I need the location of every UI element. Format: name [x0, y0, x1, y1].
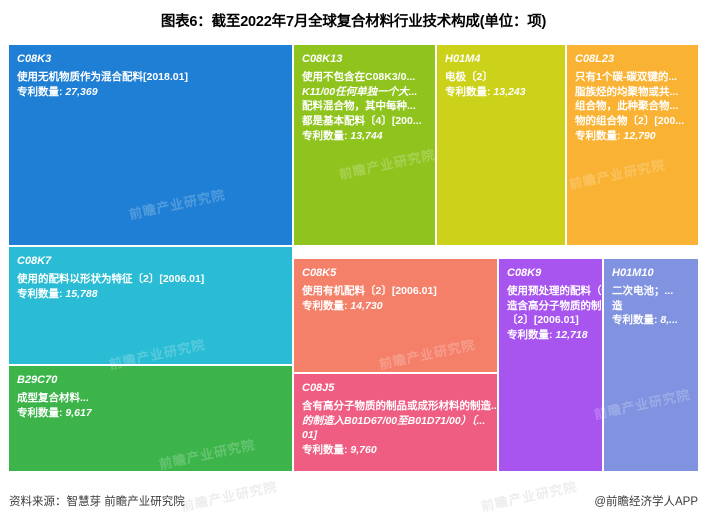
tile-count: 专利数量: 9,760: [302, 443, 490, 458]
tile-desc-line: 二次电池；...: [612, 284, 691, 299]
treemap-tile-h01m10[interactable]: H01M10 二次电池；... 造 专利数量: 8,...: [603, 258, 699, 472]
tile-desc-line: 含有高分子物质的制品或成形材料的制造...: [302, 399, 490, 414]
tile-count: 专利数量: 9,617: [17, 406, 285, 421]
page-title: 图表6：截至2022年7月全球复合材料行业技术构成(单位：项): [0, 10, 707, 31]
watermark: 前瞻产业研究院: [479, 476, 579, 515]
treemap-chart: C08K3 使用无机物质作为混合配料[2018.01] 专利数量: 27,369…: [8, 44, 699, 472]
source-label: 资料来源：智慧芽 前瞻产业研究院: [9, 493, 185, 509]
tile-desc-line: 使用预处理的配料（使用预处理的纤维状...: [507, 284, 595, 299]
tile-count: 专利数量: 14,730: [302, 299, 490, 314]
tile-desc-line: 都是基本配料〔4〕[200...: [302, 114, 428, 129]
tile-desc-line: 01]: [302, 428, 490, 443]
treemap-tile-c08l23[interactable]: C08L23 只有1个碳-碳双键的... 脂族烃的均聚物或共... 组合物，此种…: [566, 44, 699, 246]
tile-desc-line: 使用有机配料〔2〕[2006.01]: [302, 284, 490, 299]
tile-desc-line: 〔2〕[2006.01]: [507, 313, 595, 328]
tile-desc-line: 配料混合物，其中每种...: [302, 99, 428, 114]
tile-desc-line: 使用无机物质作为混合配料[2018.01]: [17, 70, 285, 85]
tile-desc-line: 物的组合物〔2〕[200...: [575, 114, 691, 129]
tile-desc-line: 使用不包含在C08K3/0...: [302, 70, 428, 85]
tile-count: 专利数量: 27,369: [17, 85, 285, 100]
tile-code: C08K7: [17, 254, 285, 270]
tile-code: C08K3: [17, 52, 285, 68]
treemap-tile-b29c70[interactable]: C08K9 使用预处理的配料（使用预处理的纤维状... 造含高分子物质的制品或成…: [498, 258, 603, 472]
tile-desc-line: 组合物，此种聚合物...: [575, 99, 691, 114]
tile-code: C08K13: [302, 52, 428, 68]
tile-count: 专利数量: 8,...: [612, 313, 691, 328]
tile-code: C08L23: [575, 52, 691, 68]
tile-count: 专利数量: 12,790: [575, 129, 691, 144]
tile-code: B29C70: [17, 373, 285, 389]
treemap-tile-c08j5[interactable]: C08J5 含有高分子物质的制品或成形材料的制造... 的制造入B01D67/0…: [293, 373, 498, 472]
brand-label: @前瞻经济学人APP: [594, 493, 698, 509]
tile-desc-line: 脂族烃的均聚物或共...: [575, 85, 691, 100]
tile-desc-line: 电极〔2〕: [445, 70, 558, 85]
treemap-tile-c08k9[interactable]: C08K5 使用有机配料〔2〕[2006.01] 专利数量: 14,730: [293, 258, 498, 373]
tile-count: 专利数量: 15,788: [17, 287, 285, 302]
watermark: 前瞻产业研究院: [179, 476, 279, 515]
tile-code: H01M4: [445, 52, 558, 68]
tile-count: 专利数量: 13,243: [445, 85, 558, 100]
tile-desc-line: 造: [612, 299, 691, 314]
treemap-tile-h01m4[interactable]: H01M4 电极〔2〕 专利数量: 13,243: [436, 44, 566, 246]
tile-count: 专利数量: 13,744: [302, 129, 428, 144]
treemap-tile-c08k5[interactable]: B29C70 成型复合材料... 专利数量: 9,617: [8, 365, 293, 472]
tile-desc-line: 的制造入B01D67/00至B01D71/00）〔...: [302, 414, 490, 429]
tile-desc-line: 只有1个碳-碳双键的...: [575, 70, 691, 85]
treemap-tile-c08k3[interactable]: C08K3 使用无机物质作为混合配料[2018.01] 专利数量: 27,369: [8, 44, 293, 246]
tile-desc-line: 造含高分子物质的制品或成形材料入C08...: [507, 299, 595, 314]
tile-count: 专利数量: 12,718: [507, 328, 595, 343]
treemap-tile-c08k13[interactable]: C08K13 使用不包含在C08K3/0... K11/00任何单独一个大...…: [293, 44, 436, 246]
treemap-tile-c08k7[interactable]: C08K7 使用的配料以形状为特征〔2〕[2006.01] 专利数量: 15,7…: [8, 246, 293, 365]
tile-code: C08K9: [507, 266, 595, 282]
tile-desc-line: K11/00任何单独一个大...: [302, 85, 428, 100]
tile-code: H01M10: [612, 266, 691, 282]
tile-desc-line: 使用的配料以形状为特征〔2〕[2006.01]: [17, 272, 285, 287]
tile-desc-line: 成型复合材料...: [17, 391, 285, 406]
tile-code: C08K5: [302, 266, 490, 282]
tile-code: C08J5: [302, 381, 490, 397]
